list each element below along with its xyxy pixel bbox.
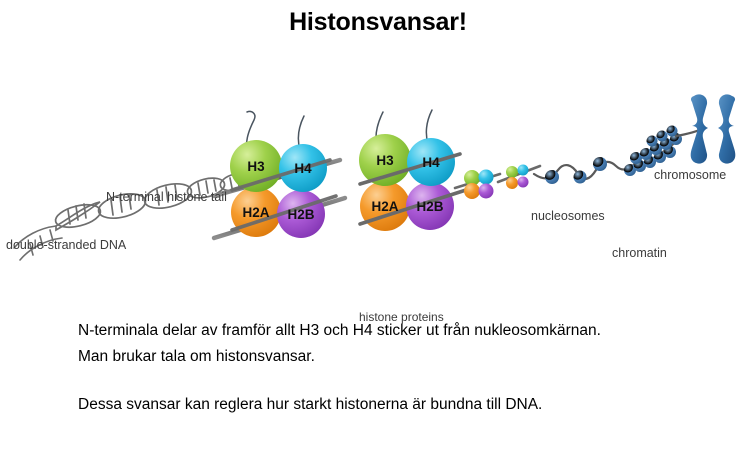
page-title: Histonsvansar! bbox=[0, 8, 756, 37]
histone-octamer-right: H3 H4 H2A H2B bbox=[359, 134, 466, 231]
svg-text:H2A: H2A bbox=[371, 199, 398, 214]
mini-octamer-1 bbox=[455, 170, 500, 200]
body-text-line-2: Man brukar tala om histonsvansar. bbox=[78, 348, 315, 366]
chromatin-packing-diagram: H3 H4 H2A H2B H3 H4 H2A H2B bbox=[0, 78, 756, 268]
svg-text:H2A: H2A bbox=[242, 205, 269, 220]
mini-octamer-2 bbox=[498, 165, 540, 190]
histone-octamer-left: H3 H4 H2A H2B bbox=[230, 140, 336, 238]
label-chromatin: chromatin bbox=[612, 246, 667, 260]
body-text-line-3: Dessa svansar kan reglera hur starkt his… bbox=[78, 396, 542, 414]
svg-text:H4: H4 bbox=[294, 161, 312, 176]
svg-text:H2B: H2B bbox=[287, 207, 314, 222]
svg-text:H3: H3 bbox=[376, 153, 394, 168]
svg-text:H3: H3 bbox=[247, 159, 265, 174]
label-double-stranded-dna: double-stranded DNA bbox=[6, 238, 126, 252]
svg-text:H4: H4 bbox=[422, 155, 440, 170]
nucleosome-beads-on-string bbox=[534, 157, 636, 184]
label-nucleosomes: nucleosomes bbox=[531, 209, 605, 223]
chromosome-shape bbox=[691, 94, 736, 163]
svg-text:H2B: H2B bbox=[416, 199, 443, 214]
label-chromosome: chromosome bbox=[654, 168, 726, 182]
label-n-terminal-histone-tail: N-terminal histone tail bbox=[106, 190, 227, 204]
body-text-line-1: N-terminala delar av framför allt H3 och… bbox=[78, 322, 601, 340]
